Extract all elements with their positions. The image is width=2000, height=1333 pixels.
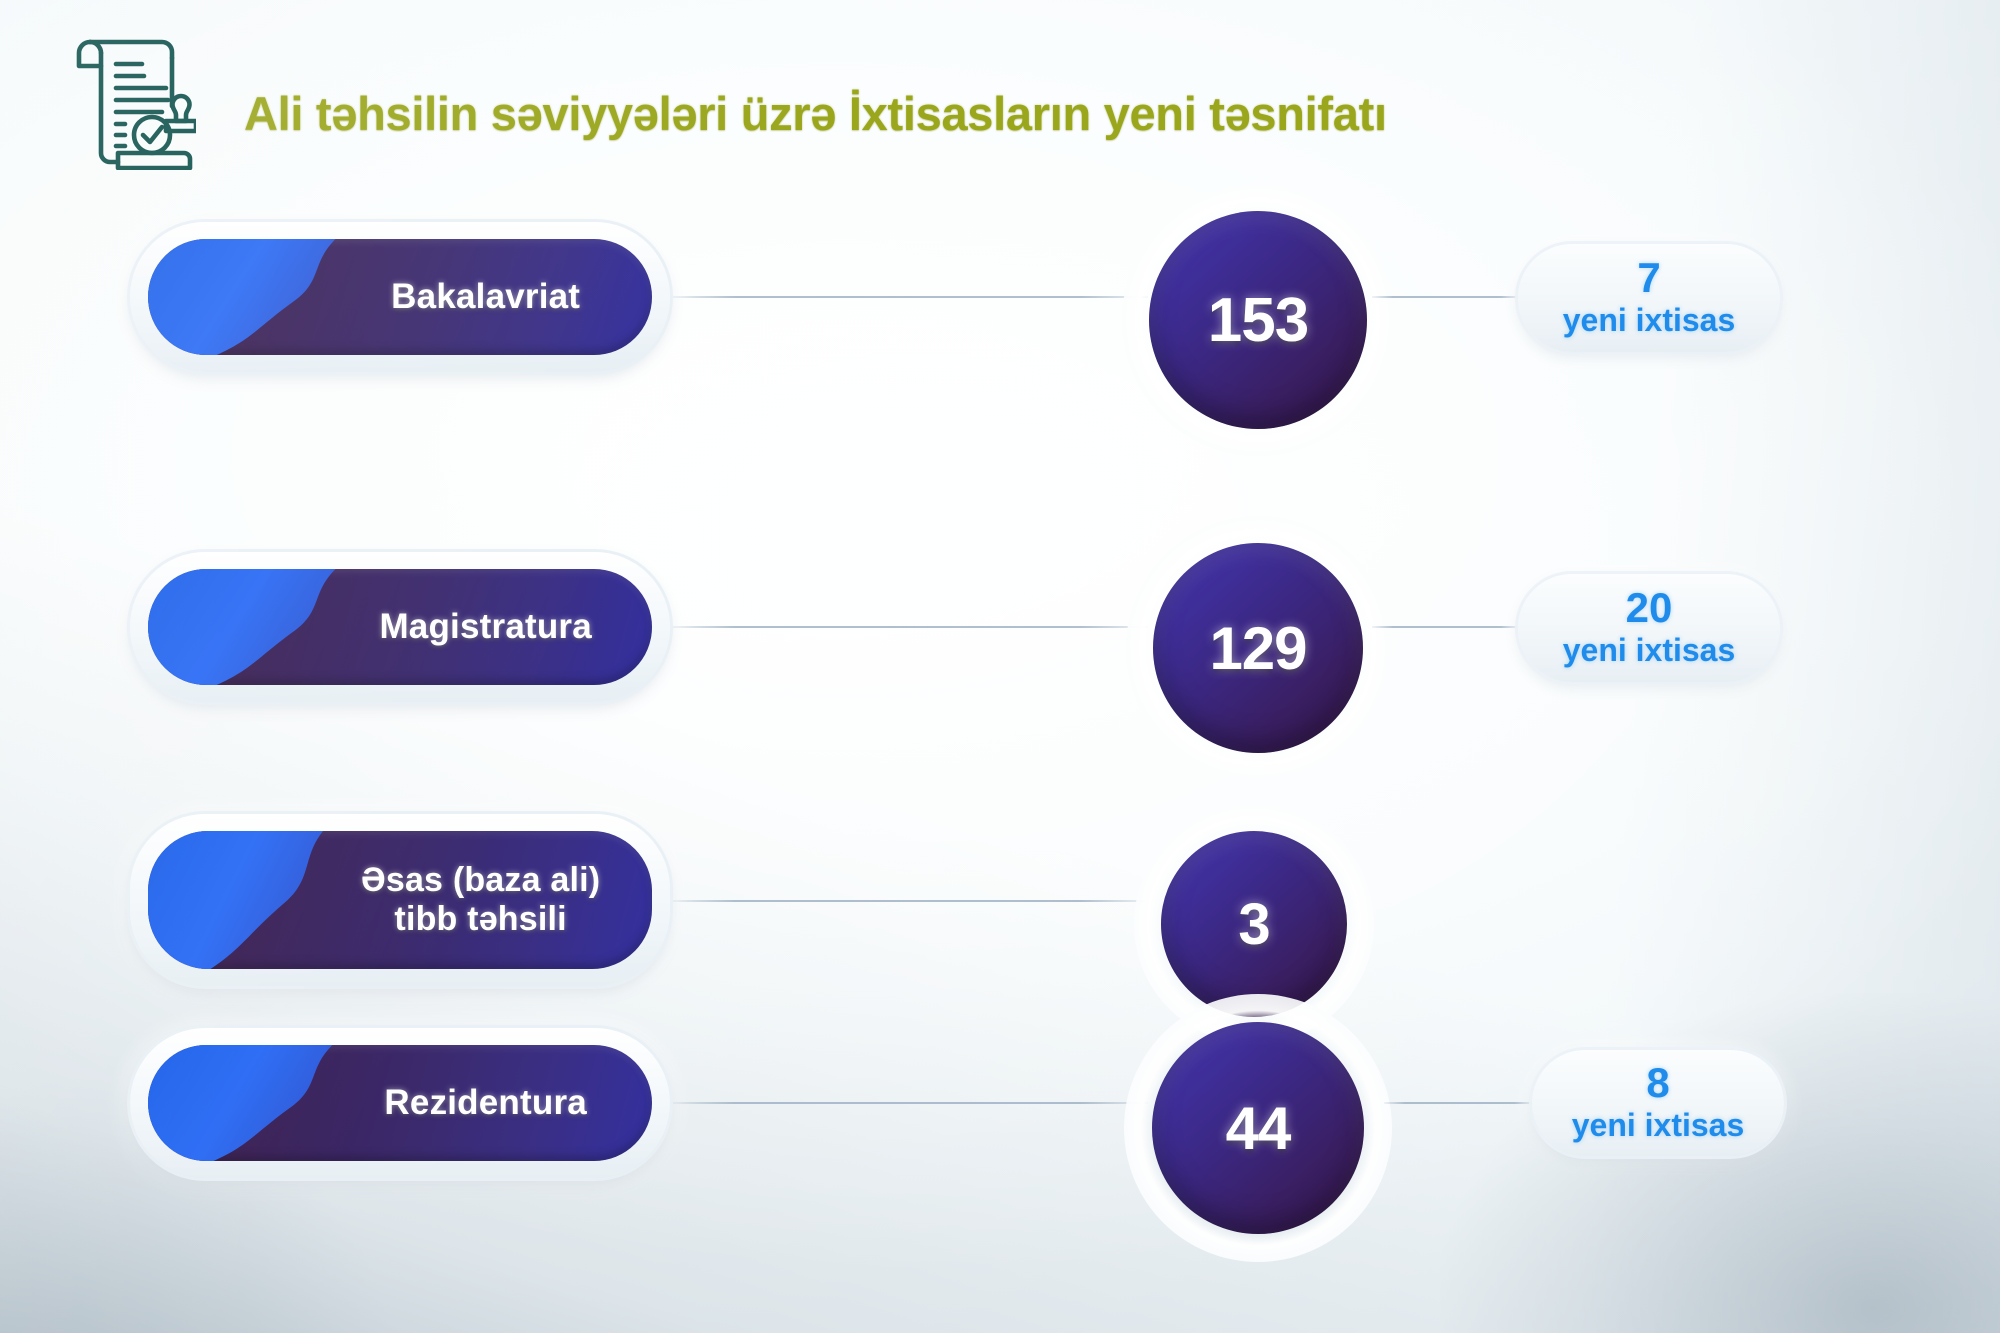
pill-inner: Bakalavriat (148, 239, 652, 355)
rows-container: Bakalavriat 153 7 yeni ixtisas (0, 0, 2000, 1333)
count-circle-rezidentura[interactable]: 44 (1152, 1022, 1364, 1234)
connector-line-left (668, 296, 1148, 298)
badge-label: yeni ixtisas (1572, 1108, 1745, 1143)
badge-number: 7 (1637, 257, 1660, 299)
connector-line-left (668, 1102, 1148, 1104)
level-pill-bakalavriat[interactable]: Bakalavriat (130, 222, 670, 372)
pill-label: Rezidentura (148, 1045, 652, 1161)
pill-label: Bakalavriat (148, 239, 652, 355)
row-rezidentura: Rezidentura 44 8 yeni ixtisas (0, 800, 2000, 1000)
new-specialties-badge-bakalavriat[interactable]: 7 yeni ixtisas (1518, 244, 1780, 352)
count-circle-bakalavriat[interactable]: 153 (1149, 211, 1367, 429)
badge-number: 8 (1646, 1062, 1669, 1104)
connector-line-right (1372, 296, 1522, 298)
new-specialties-badge-rezidentura[interactable]: 8 yeni ixtisas (1532, 1050, 1784, 1156)
connector-line-right (1384, 1102, 1536, 1104)
level-pill-rezidentura[interactable]: Rezidentura (130, 1028, 670, 1178)
pill-label-line1: Rezidentura (384, 1083, 587, 1123)
badge-label: yeni ixtisas (1563, 303, 1736, 338)
pill-inner: Rezidentura (148, 1045, 652, 1161)
infographic-slide: Ali təhsilin səviyyələri üzrə İxtisaslar… (0, 0, 2000, 1333)
pill-label-line1: Bakalavriat (391, 277, 580, 317)
row-esas-tibb: Əsas (baza ali) tibb təhsili 3 (0, 600, 2000, 800)
row-magistratura: Magistratura 129 20 yeni ixtisas (0, 398, 2000, 598)
count-circle-wrap-rezidentura: 44 (1124, 994, 1392, 1262)
count-value: 44 (1226, 1094, 1291, 1163)
count-value: 153 (1208, 285, 1308, 356)
row-bakalavriat: Bakalavriat 153 7 yeni ixtisas (0, 196, 2000, 396)
